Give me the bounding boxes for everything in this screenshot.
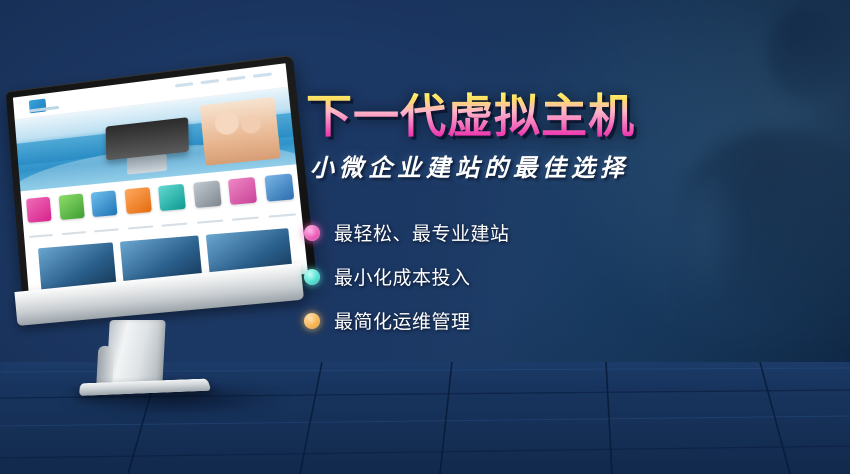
feature-label: 最轻松、最专业建站	[334, 219, 510, 246]
list-item: 最轻松、最专业建站	[304, 219, 720, 246]
website-hero-people-image	[199, 96, 280, 165]
website-app-icon	[58, 193, 84, 220]
list-item: 最简化运维管理	[304, 307, 720, 334]
bullet-dot-icon	[304, 225, 320, 241]
website-nav-item	[253, 73, 272, 78]
website-icon-label	[162, 223, 188, 227]
website-icon-label	[268, 213, 296, 217]
website-app-icon	[124, 187, 151, 214]
website-icon-label	[128, 226, 153, 230]
monitor-stand-neck	[106, 320, 165, 386]
list-item: 最小化成本投入	[304, 263, 720, 290]
website-app-icon	[228, 177, 257, 205]
website-nav-item	[201, 79, 220, 84]
website-nav	[175, 73, 272, 88]
promo-banner: 下一代虚拟主机 小微企业建站的最佳选择 最轻松、最专业建站 最小化成本投入 最简…	[0, 0, 850, 474]
website-preview	[13, 63, 308, 293]
website-app-icon	[264, 173, 294, 201]
website-icon-label	[29, 234, 53, 238]
website-icon-label	[62, 231, 86, 235]
monitor-screen	[13, 63, 308, 293]
website-app-icon	[158, 183, 186, 210]
feature-list: 最轻松、最专业建站 最小化成本投入 最简化运维管理	[300, 219, 720, 334]
website-icon-label	[94, 228, 119, 232]
bullet-dot-icon	[304, 313, 320, 329]
person-head	[768, 6, 842, 98]
website-app-icon	[26, 196, 52, 222]
desktop-monitor	[4, 84, 300, 414]
banner-content: 下一代虚拟主机 小微企业建站的最佳选择 最轻松、最专业建站 最小化成本投入 最简…	[300, 92, 720, 351]
website-icon-label	[197, 220, 223, 224]
website-app-icon	[193, 180, 222, 208]
banner-title: 下一代虚拟主机	[306, 92, 720, 140]
website-icon-label	[232, 217, 259, 221]
website-nav-item	[226, 76, 245, 81]
bullet-dot-icon	[304, 269, 320, 285]
feature-label: 最简化运维管理	[334, 307, 471, 334]
banner-subtitle: 小微企业建站的最佳选择	[310, 148, 720, 183]
feature-label: 最小化成本投入	[334, 263, 471, 290]
website-nav-item	[175, 83, 193, 88]
website-app-icon	[91, 190, 118, 217]
